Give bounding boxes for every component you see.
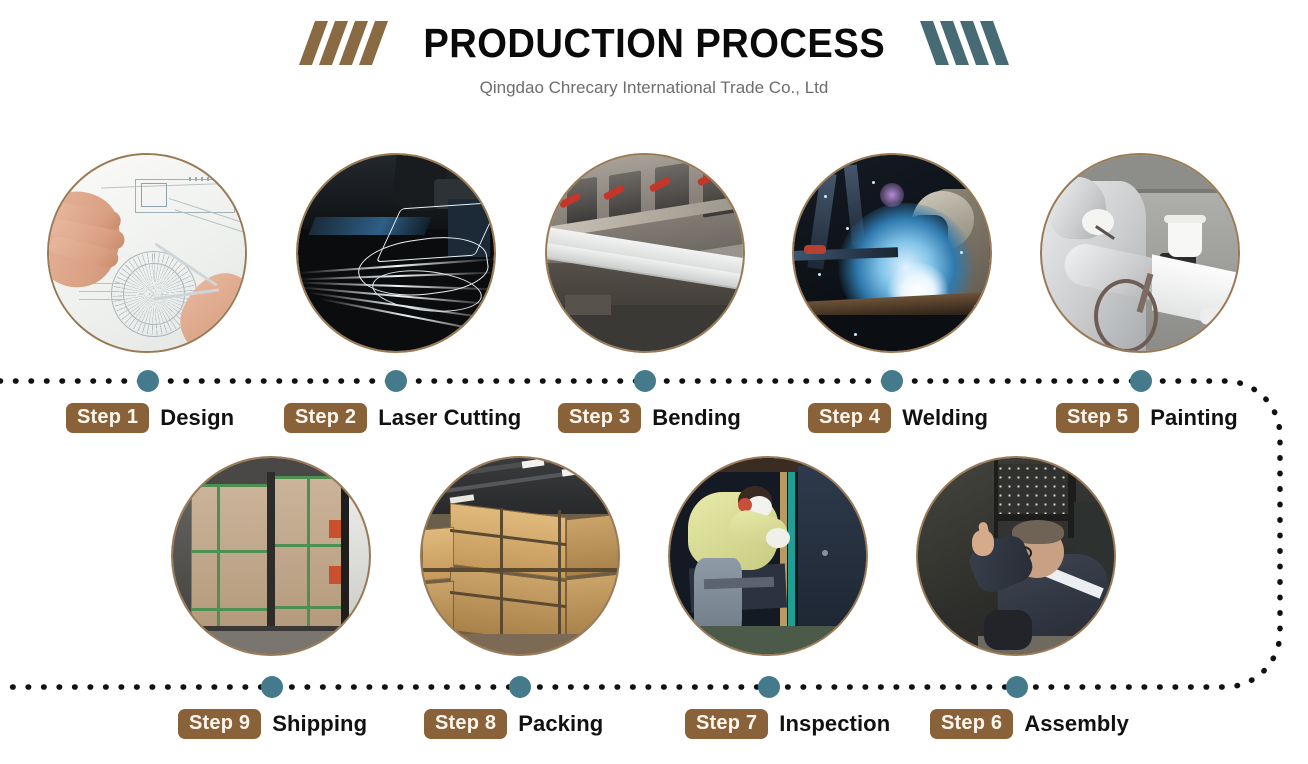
step-name-1: Design <box>160 405 234 431</box>
design-photo <box>47 153 247 353</box>
step-name-6: Assembly <box>1024 711 1129 737</box>
teal-slashes-icon <box>928 21 1001 65</box>
company-subtitle: Qingdao Chrecary International Trade Co.… <box>0 78 1308 98</box>
step-name-5: Painting <box>1150 405 1238 431</box>
step-badge-9: Step 9 <box>178 709 261 739</box>
step-label-4[interactable]: Step 4 Welding <box>808 403 988 433</box>
production-process-infographic: PRODUCTION PROCESS Qingdao Chrecary Inte… <box>0 0 1308 764</box>
header: PRODUCTION PROCESS Qingdao Chrecary Inte… <box>0 0 1308 118</box>
timeline-node-9 <box>261 676 283 698</box>
step-name-9: Shipping <box>272 711 367 737</box>
step-name-7: Inspection <box>779 711 890 737</box>
step-label-5[interactable]: Step 5 Painting <box>1056 403 1238 433</box>
timeline-node-5 <box>1130 370 1152 392</box>
bending-photo <box>545 153 745 353</box>
timeline-node-4 <box>881 370 903 392</box>
timeline-node-2 <box>385 370 407 392</box>
step-label-9[interactable]: Step 9 Shipping <box>178 709 367 739</box>
step-badge-3: Step 3 <box>558 403 641 433</box>
timeline-node-6 <box>1006 676 1028 698</box>
assembly-photo <box>916 456 1116 656</box>
painting-photo <box>1040 153 1240 353</box>
step-badge-5: Step 5 <box>1056 403 1139 433</box>
step-label-1[interactable]: Step 1 Design <box>66 403 234 433</box>
brown-slashes-icon <box>307 21 380 65</box>
step-badge-1: Step 1 <box>66 403 149 433</box>
step-label-7[interactable]: Step 7 Inspection <box>685 709 890 739</box>
step-label-8[interactable]: Step 8 Packing <box>424 709 603 739</box>
step-label-6[interactable]: Step 6 Assembly <box>930 709 1129 739</box>
laser-photo <box>296 153 496 353</box>
welding-photo <box>792 153 992 353</box>
timeline-node-7 <box>758 676 780 698</box>
step-badge-2: Step 2 <box>284 403 367 433</box>
timeline-node-1 <box>137 370 159 392</box>
step-label-3[interactable]: Step 3 Bending <box>558 403 741 433</box>
page-title: PRODUCTION PROCESS <box>423 20 885 67</box>
timeline-node-8 <box>509 676 531 698</box>
step-badge-8: Step 8 <box>424 709 507 739</box>
step-label-2[interactable]: Step 2 Laser Cutting <box>284 403 521 433</box>
step-name-2: Laser Cutting <box>378 405 521 431</box>
title-row: PRODUCTION PROCESS <box>0 14 1308 72</box>
timeline-node-3 <box>634 370 656 392</box>
step-name-4: Welding <box>902 405 988 431</box>
step-name-8: Packing <box>518 711 603 737</box>
step-badge-6: Step 6 <box>930 709 1013 739</box>
shipping-photo <box>171 456 371 656</box>
inspection-photo <box>668 456 868 656</box>
step-badge-7: Step 7 <box>685 709 768 739</box>
step-name-3: Bending <box>652 405 741 431</box>
packing-photo <box>420 456 620 656</box>
step-badge-4: Step 4 <box>808 403 891 433</box>
